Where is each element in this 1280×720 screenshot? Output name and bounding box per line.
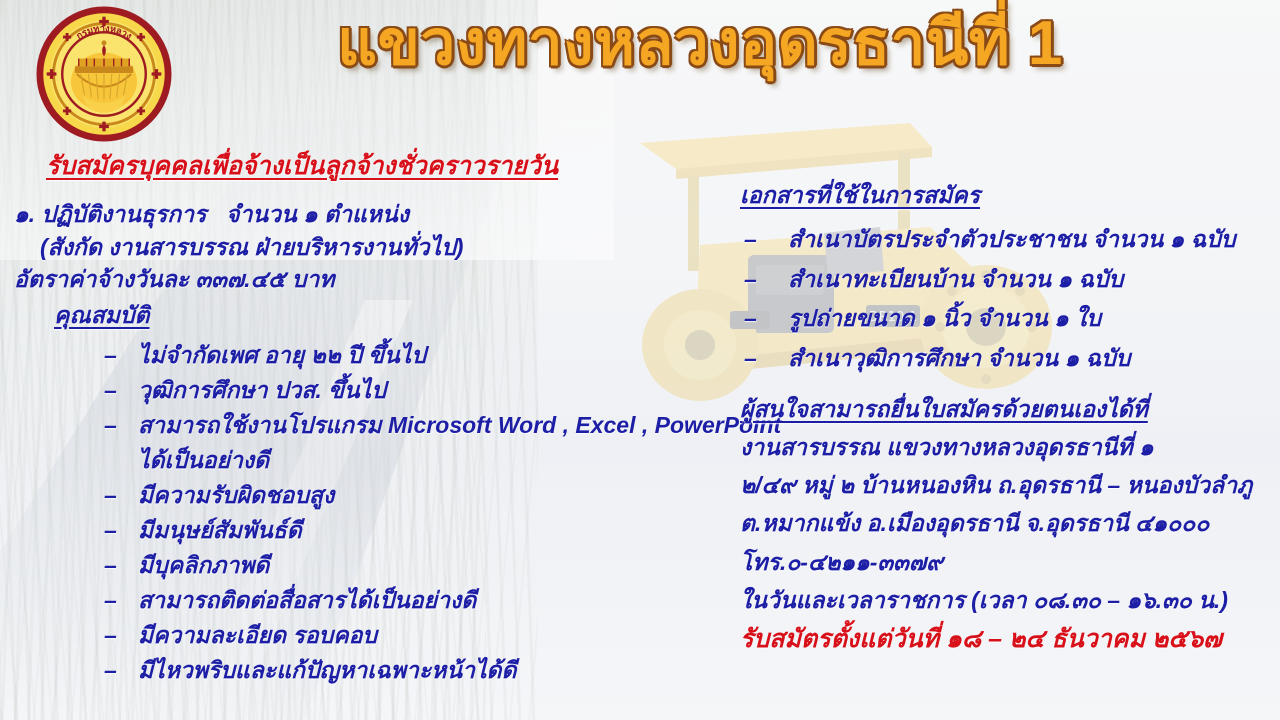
left-column: ๑. ปฏิบัติงานธุรการ จำนวน ๑ ตำแหน่ง (สัง… — [14, 198, 729, 688]
document-text: สำเนาบัตรประจำตัวประชาชน จำนวน ๑ ฉบับ — [788, 220, 1235, 260]
qualification-text: วุฒิการศึกษา ปวส. ขึ้นไป — [138, 373, 386, 408]
list-item: – ไม่จำกัดเพศ อายุ ๒๒ ปี ขึ้นไป — [14, 338, 729, 373]
announcement-subtitle: รับสมัครบุคคลเพื่อจ้างเป็นลูกจ้างชั่วครา… — [46, 146, 558, 186]
list-item: – มีบุคลิกภาพดี — [14, 548, 729, 583]
qualification-text: มีบุคลิกภาพดี — [138, 548, 269, 583]
position-count: จำนวน ๑ ตำแหน่ง — [226, 198, 409, 231]
bullet-dash: – — [14, 373, 138, 408]
right-column: เอกสารที่ใช้ในการสมัคร – สำเนาบัตรประจำต… — [740, 178, 1270, 378]
document-text: รูปถ่ายขนาด ๑ นิ้ว จำนวน ๑ ใบ — [788, 299, 1101, 339]
bullet-dash: – — [14, 338, 138, 373]
qualification-text-continued: ได้เป็นอย่างดี — [138, 443, 781, 478]
poster-canvas: DR10-1 — [0, 0, 1280, 720]
bullet-dash: – — [740, 220, 788, 260]
bullet-dash: – — [740, 299, 788, 339]
document-text: สำเนาทะเบียนบ้าน จำนวน ๑ ฉบับ — [788, 260, 1123, 300]
list-item: – มีความรับผิดชอบสูง — [14, 478, 729, 513]
bullet-dash: – — [14, 583, 138, 618]
bullet-dash: – — [14, 618, 138, 653]
bullet-dash: – — [14, 548, 138, 583]
bullet-dash: – — [14, 478, 138, 513]
qualification-text: มีมนุษย์สัมพันธ์ดี — [138, 513, 302, 548]
documents-list: – สำเนาบัตรประจำตัวประชาชน จำนวน ๑ ฉบับ … — [740, 220, 1270, 378]
list-item: – สำเนาบัตรประจำตัวประชาชน จำนวน ๑ ฉบับ — [740, 220, 1270, 260]
list-item: – มีไหวพริบและแก้ปัญหาเฉพาะหน้าได้ดี — [14, 653, 729, 688]
list-item: – มีความละเอียด รอบคอบ — [14, 618, 729, 653]
qualification-text-main: สามารถใช้งานโปรแกรม Microsoft Word , Exc… — [138, 412, 781, 438]
bullet-dash: – — [14, 513, 138, 548]
bullet-dash: – — [14, 653, 138, 688]
qualification-text: ไม่จำกัดเพศ อายุ ๒๒ ปี ขึ้นไป — [138, 338, 426, 373]
contact-block: ผู้สนใจสามารถยื่นใบสมัครด้วยตนเองได้ที่ … — [740, 392, 1280, 658]
page-title: แขวงทางหลวงอุดรธานีที่ 1 — [300, 8, 1100, 79]
position-affiliation: (สังกัด งานสารบรรณ ฝ่ายบริหารงานทั่วไป) — [14, 231, 729, 264]
qualification-text: มีความละเอียด รอบคอบ — [138, 618, 377, 653]
list-item: – สามารถติดต่อสื่อสารได้เป็นอย่างดี — [14, 583, 729, 618]
qualifications-list: – ไม่จำกัดเพศ อายุ ๒๒ ปี ขึ้นไป – วุฒิกา… — [14, 338, 729, 688]
contact-heading: ผู้สนใจสามารถยื่นใบสมัครด้วยตนเองได้ที่ — [740, 392, 1280, 428]
position-row: ๑. ปฏิบัติงานธุรการ จำนวน ๑ ตำแหน่ง — [14, 198, 729, 231]
list-item: – สามารถใช้งานโปรแกรม Microsoft Word , E… — [14, 408, 729, 478]
contact-address-line-2: ต.หมากแข้ง อ.เมืองอุดรธานี จ.อุดรธานี ๔๑… — [740, 504, 1280, 542]
contact-address-line-1: ๒/๔๙ หมู่ ๒ บ้านหนองหิน ถ.อุดรธานี – หนอ… — [740, 466, 1280, 504]
list-item: – มีมนุษย์สัมพันธ์ดี — [14, 513, 729, 548]
position-wage: อัตราค่าจ้างวันละ ๓๓๗.๔๕ บาท — [14, 263, 729, 296]
department-of-highways-logo-icon: กรมทางหลวง — [36, 6, 172, 142]
qualification-text: มีความรับผิดชอบสูง — [138, 478, 334, 513]
contact-office: งานสารบรรณ แขวงทางหลวงอุดรธานีที่ ๑ — [740, 428, 1280, 466]
documents-heading: เอกสารที่ใช้ในการสมัคร — [740, 178, 1270, 214]
bullet-dash: – — [740, 260, 788, 300]
list-item: – วุฒิการศึกษา ปวส. ขึ้นไป — [14, 373, 729, 408]
list-item: – สำเนาวุฒิการศึกษา จำนวน ๑ ฉบับ — [740, 339, 1270, 379]
qualifications-heading: คุณสมบัติ — [14, 298, 729, 334]
qualification-text: สามารถติดต่อสื่อสารได้เป็นอย่างดี — [138, 583, 476, 618]
qualification-text: มีไหวพริบและแก้ปัญหาเฉพาะหน้าได้ดี — [138, 653, 516, 688]
bullet-dash: – — [740, 339, 788, 379]
bullet-dash: – — [14, 408, 138, 478]
contact-office-hours: ในวันและเวลาราชการ (เวลา ๐๘.๓๐ – ๑๖.๓๐ น… — [740, 581, 1280, 619]
application-deadline: รับสมัตรตั้งแต่วันที่ ๑๘ – ๒๔ ธันวาคม ๒๕… — [740, 621, 1280, 659]
document-text: สำเนาวุฒิการศึกษา จำนวน ๑ ฉบับ — [788, 339, 1130, 379]
position-name: ๑. ปฏิบัติงานธุรการ — [14, 198, 226, 231]
list-item: – สำเนาทะเบียนบ้าน จำนวน ๑ ฉบับ — [740, 260, 1270, 300]
list-item: – รูปถ่ายขนาด ๑ นิ้ว จำนวน ๑ ใบ — [740, 299, 1270, 339]
qualification-text: สามารถใช้งานโปรแกรม Microsoft Word , Exc… — [138, 408, 781, 478]
contact-phone: โทร.๐-๔๒๑๑-๓๓๗๙ — [740, 543, 1280, 581]
